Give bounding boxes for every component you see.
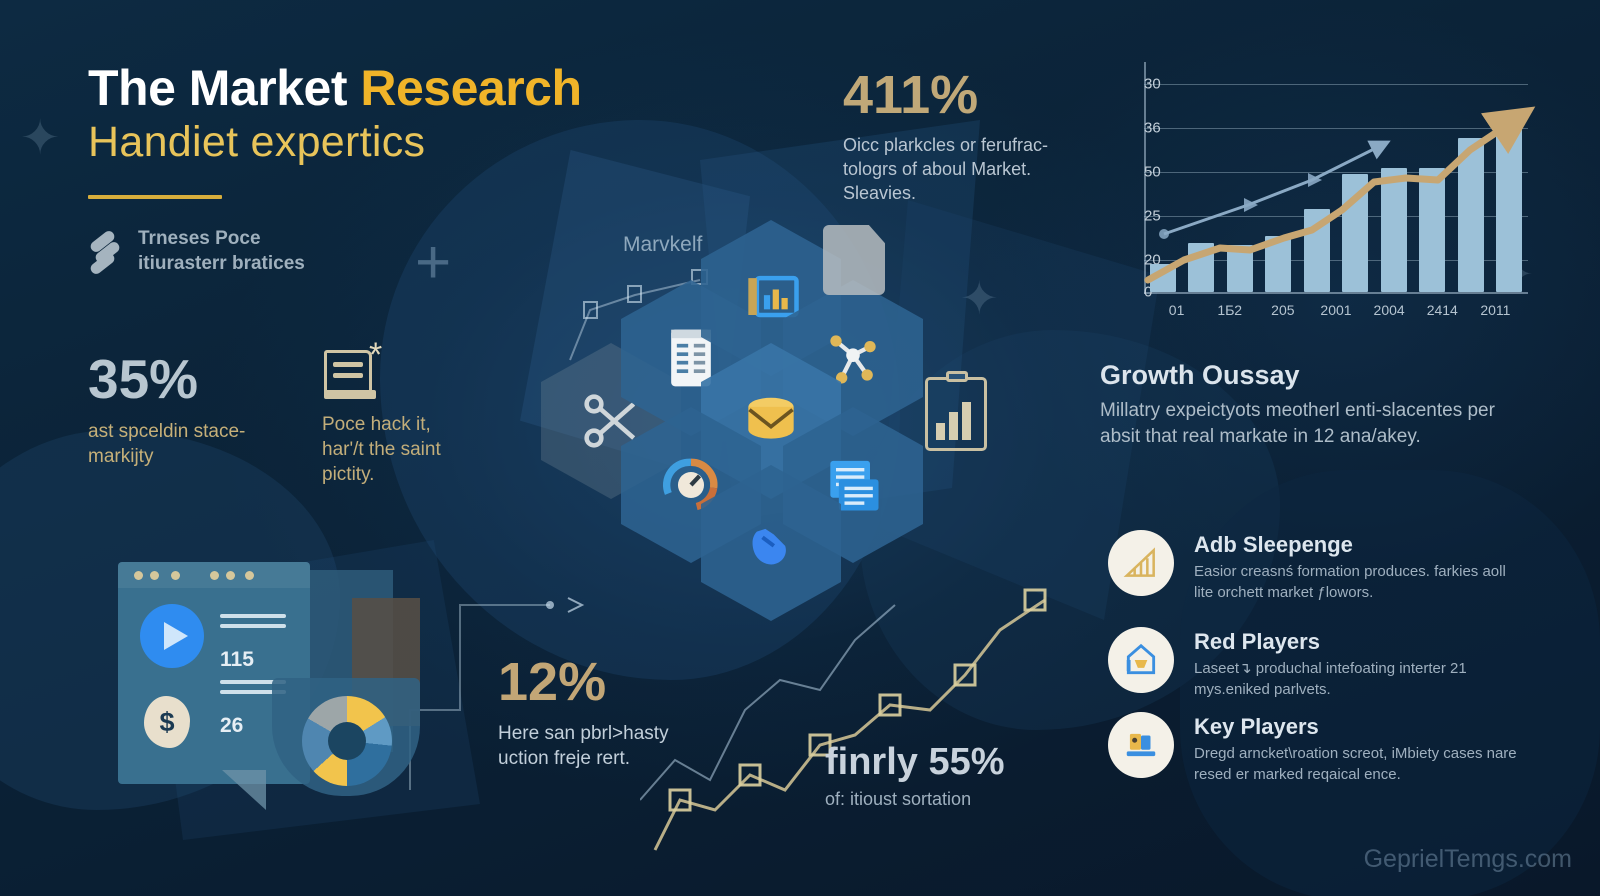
tagline-text: Trneses Poce itiurasterr bratices xyxy=(138,227,305,276)
growth-section-title: Growth Oussay xyxy=(1100,360,1300,391)
feature-item-2[interactable]: Red Players Laseet↴ produchal intefoatin… xyxy=(1108,627,1528,700)
feature-body: Easior creasnś formation produces. farki… xyxy=(1194,562,1528,603)
chart-xtick: 205 xyxy=(1256,302,1309,318)
document-fold-icon xyxy=(823,225,885,295)
home-shield-icon xyxy=(1108,627,1174,693)
home-shield-glyph xyxy=(1122,641,1160,679)
watermark: GeprielTemgs.com xyxy=(1364,845,1572,874)
feature-heading: Red Players xyxy=(1194,629,1528,654)
hexagon-icon-cluster: Marvkelf xyxy=(505,225,1025,645)
donut-chart xyxy=(302,696,392,786)
gold-trend-line xyxy=(1148,122,1512,280)
blue-trend-line xyxy=(1164,146,1380,234)
tagline-line-2: itiurasterr bratices xyxy=(138,252,305,276)
stat-block-411: 411% Oicc plarkcles or ferufrac- tologrs… xyxy=(843,68,1073,205)
feature-item-1[interactable]: Adb Sleepenge Easior creasnś formation p… xyxy=(1108,530,1528,603)
stat-value: finrly 55% xyxy=(825,742,1075,784)
growth-chart-glyph xyxy=(1122,544,1160,582)
chart-xtick: 1Ƃ2 xyxy=(1203,302,1256,318)
feature-body: Laseet↴ produchal intefoating interter 2… xyxy=(1194,659,1528,700)
chart-xtick: 2001 xyxy=(1309,302,1362,318)
stat-block-12: 12% Here san pbrl>hasty uction freje rer… xyxy=(498,655,713,771)
stat-block-35: 35% ast spceldin stace-markijty xyxy=(88,352,303,469)
star-icon: ✦ xyxy=(20,115,60,163)
stat-value: 12% xyxy=(498,655,713,709)
chart-trend-overlay xyxy=(1098,62,1528,320)
feature-heading: Adb Sleepenge xyxy=(1194,532,1528,557)
growth-section-body: Millatry expeictyots meotherl enti-slace… xyxy=(1100,398,1500,450)
feature-heading: Key Players xyxy=(1194,714,1528,739)
stat-description: Oicc plarkcles or ferufrac- tologrs of a… xyxy=(843,134,1073,205)
chart-xtick: 2011 xyxy=(1469,302,1522,318)
chart-xtick: 01 xyxy=(1150,302,1203,318)
tagline-line-1: Trneses Poce xyxy=(138,227,305,251)
title-main: The Market xyxy=(88,60,360,116)
growth-bar-chart: 30 36 50 25 20 0 011Ƃ2205200120042414201… xyxy=(1098,62,1528,320)
growth-chart-icon xyxy=(1108,530,1174,596)
note-description: Poce hack it, har'/t the saint pictity. xyxy=(322,412,472,487)
layers-icon xyxy=(88,232,124,272)
presentation-people-icon xyxy=(1108,712,1174,778)
page-subtitle: Handiet expertics xyxy=(88,117,788,168)
dashboard-metric-1: 115 xyxy=(220,648,254,672)
chart-xtick: 2004 xyxy=(1363,302,1416,318)
cluster-label: Marvkelf xyxy=(623,233,702,257)
stat-value: 411% xyxy=(843,68,1073,122)
clipboard-chart-icon xyxy=(925,377,987,451)
infographic-poster: ✦ ✦ ✦ + The Market Research xyxy=(0,0,1600,896)
feature-item-3[interactable]: Key Players Dregd arncket\roation screot… xyxy=(1108,712,1528,785)
stat-description: ast spceldin stace-markijty xyxy=(88,419,303,469)
chart-xtick: 2414 xyxy=(1416,302,1469,318)
presentation-people-glyph xyxy=(1122,726,1160,764)
handshake-icon xyxy=(737,509,805,577)
book-icon: * xyxy=(322,348,384,404)
stat-value: 35% xyxy=(88,352,303,407)
page-title: The Market Research xyxy=(88,62,788,115)
asterisk-icon: * xyxy=(369,338,382,372)
title-accent: Research xyxy=(360,60,581,116)
stat-description: Here san pbrl>hasty uction freje rert. xyxy=(498,721,713,771)
feature-body: Dregd arncket\roation screot, iMbiety ca… xyxy=(1194,744,1528,785)
stat-description: of: itioust sortation xyxy=(825,788,1075,812)
title-underline-rule xyxy=(88,195,222,199)
stat-block-55: finrly 55% of: itioust sortation xyxy=(825,742,1075,812)
dashboard-metric-2: 26 xyxy=(220,714,243,738)
note-block: * Poce hack it, har'/t the saint pictity… xyxy=(322,348,472,487)
chart-x-labels: 011Ƃ22052001200424142011 xyxy=(1150,302,1522,318)
play-button-icon[interactable] xyxy=(140,604,204,668)
dollar-icon: $ xyxy=(144,696,190,748)
decorative-triangle xyxy=(222,770,266,810)
